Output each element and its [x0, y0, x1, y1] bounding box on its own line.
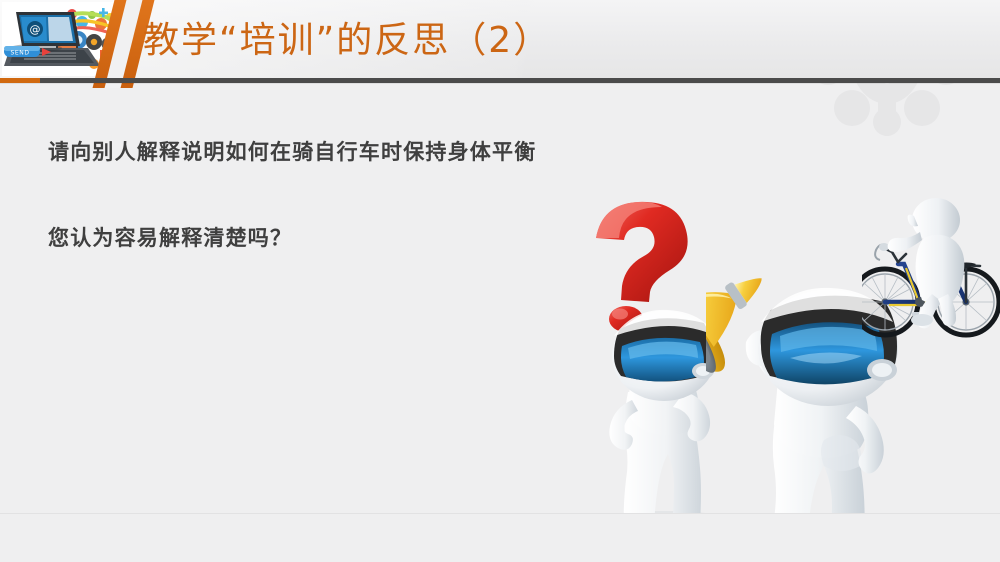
yellow-megaphone	[706, 232, 792, 382]
header-hairline	[0, 83, 1000, 84]
body-line-1: 请向别人解释说明如何在骑自行车时保持身体平衡	[48, 136, 536, 166]
svg-text:SEND: SEND	[10, 50, 29, 57]
3d-figure-riding-bicycle	[862, 182, 1000, 340]
helmet-head	[612, 310, 716, 401]
3d-figure-with-megaphone	[706, 230, 976, 548]
slide-footer: 2017/12/22 现代教学技术教育部重点实验室 陕西师范大学国家级教师教学发…	[0, 514, 1000, 562]
thinker-body	[606, 370, 722, 525]
page-title: 教学“培训”的反思（2）	[143, 11, 551, 63]
body-line-2: 您认为容易解释清楚吗？	[48, 222, 292, 252]
cyclist-body	[888, 198, 965, 328]
slide-header: @ SEND	[0, 0, 1000, 82]
bicycle	[862, 242, 999, 335]
svg-text:@: @	[30, 23, 41, 36]
helmet-head-2	[758, 288, 898, 406]
presentation-slide: @ SEND	[0, 0, 1000, 562]
3d-figure-with-helmet-thinking	[556, 196, 786, 526]
red-question-mark	[596, 202, 688, 332]
